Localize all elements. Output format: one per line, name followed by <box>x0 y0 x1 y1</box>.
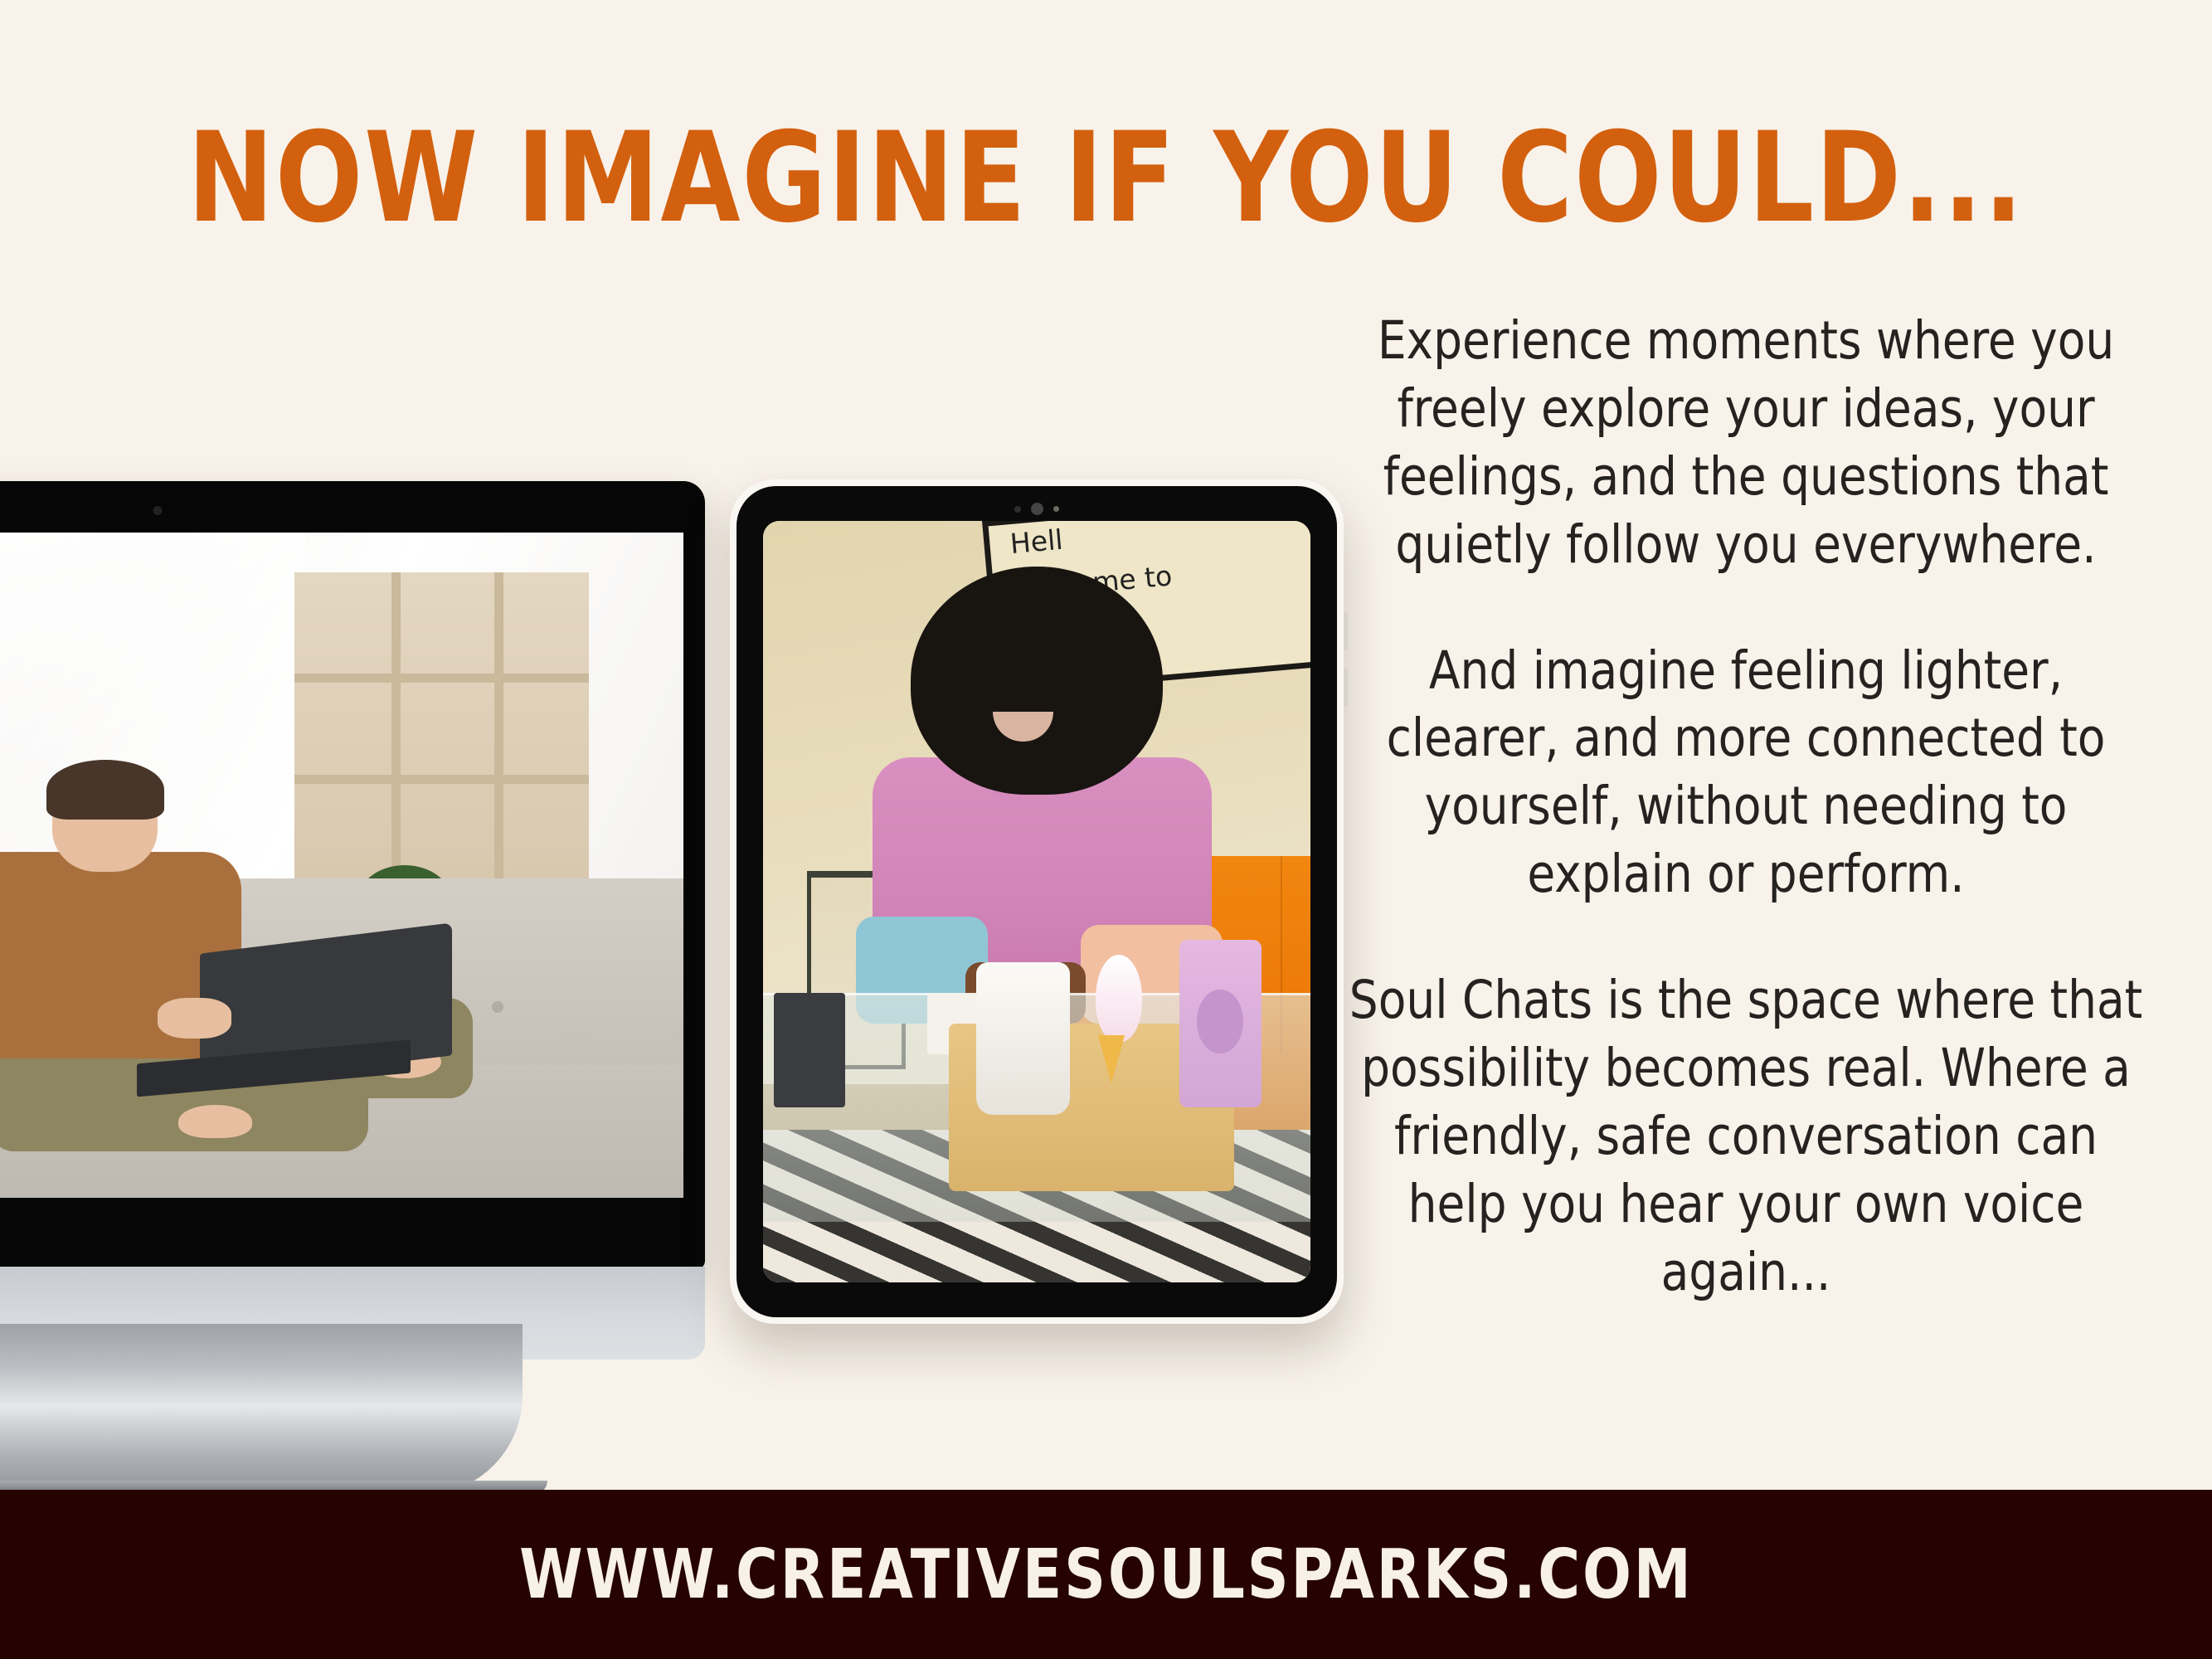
dark-object <box>774 993 845 1107</box>
webcam-icon <box>153 506 163 515</box>
paragraph-1: Experience moments where you freely expl… <box>1344 307 2148 579</box>
monitor-frame <box>0 481 705 1269</box>
tablet-screen: Hell welcome to my crib <box>763 521 1310 1282</box>
person-arm <box>0 905 68 1051</box>
person-hair <box>46 760 164 820</box>
ice-cream-swirl <box>1096 955 1141 1042</box>
whiteboard-line-1: Hell <box>1009 523 1064 560</box>
tablet-bezel: Hell welcome to my crib <box>737 486 1337 1317</box>
monitor-screen <box>0 533 683 1198</box>
monitor-stand <box>0 1324 523 1495</box>
cone-wafer <box>1098 1035 1125 1083</box>
tablet-mockup: Hell welcome to my crib <box>730 479 1344 1324</box>
pink-camera <box>1179 940 1262 1107</box>
candle-jar <box>976 962 1069 1115</box>
tablet-scene-photo: Hell welcome to my crib <box>763 521 1310 1282</box>
flash-icon <box>1053 506 1059 512</box>
person-hand <box>158 998 231 1038</box>
shelf-divider <box>494 572 503 878</box>
shelf-divider <box>391 572 401 878</box>
person-foot-left <box>178 1105 252 1138</box>
footer-bar: WWW.CREATIVESOULSPARKS.COM <box>0 1490 2212 1659</box>
tablet-frame: Hell welcome to my crib <box>730 479 1344 1324</box>
paragraph-spacer <box>1344 579 2148 637</box>
ice-cream-cone <box>1091 955 1146 1122</box>
page-title: NOW IMAGINE IF YOU COULD... <box>89 116 2124 241</box>
website-url[interactable]: WWW.CREATIVESOULSPARKS.COM <box>519 1535 1693 1614</box>
sensor-icon <box>1014 506 1021 513</box>
paragraph-spacer <box>1344 908 2148 966</box>
camera-lens-icon <box>1197 990 1242 1053</box>
camera-icon <box>1031 503 1043 515</box>
paragraph-2: And imagine feeling lighter, clearer, an… <box>1344 637 2148 909</box>
paragraph-3: Soul Chats is the space where that possi… <box>1344 966 2148 1306</box>
monitor-scene-photo <box>0 533 683 1198</box>
shelving-unit <box>294 572 589 878</box>
person-hair <box>911 567 1163 795</box>
slide-canvas: NOW IMAGINE IF YOU COULD... <box>0 0 2212 1659</box>
tablet-camera-cluster <box>1014 503 1059 515</box>
monitor-mockup <box>0 481 705 1269</box>
shelf-divider <box>294 775 589 784</box>
body-copy: Experience moments where you freely expl… <box>1344 307 2148 1306</box>
shelf-divider <box>294 674 589 683</box>
